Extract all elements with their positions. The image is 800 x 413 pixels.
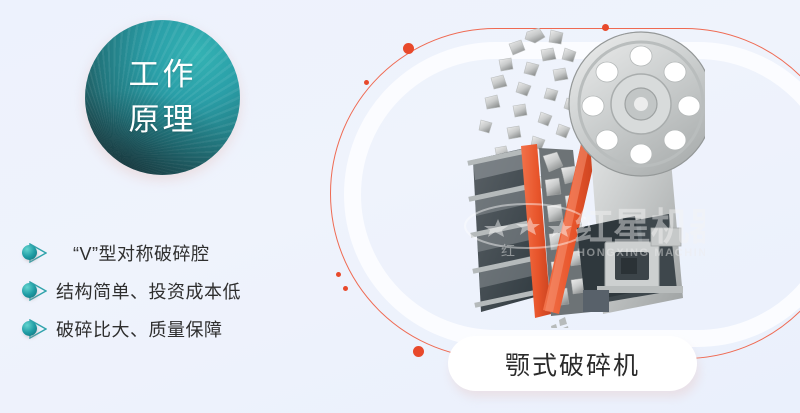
badge-line-1: 工作 [129,53,197,98]
track-dot [336,272,341,277]
track-dot [343,286,348,291]
badge-circle: 工作 原理 [85,20,240,175]
crushed-output-particles [551,317,569,328]
product-label-text: 颚式破碎机 [505,346,640,382]
crusher-flywheel [569,32,705,176]
work-principle-banner: 工作 原理 “V”型对称破碎腔结构简单、投资成本低破碎比大、质量保障 [0,0,800,413]
bullet-arrow-icon [22,318,52,340]
track-dot [403,43,414,54]
feature-list: “V”型对称破碎腔结构简单、投资成本低破碎比大、质量保障 [22,234,307,348]
bullet-arrow-icon [22,280,52,302]
track-dot [413,346,424,357]
product-label-pill: 颚式破碎机 [448,336,697,391]
bullet-arrow-icon [22,242,52,264]
feature-item: “V”型对称破碎腔 [22,234,307,272]
badge-line-2: 原理 [129,98,197,143]
feature-item: 破碎比大、质量保障 [22,310,307,348]
svg-text:HONGXING MACHINERY: HONGXING MACHINERY [577,247,705,259]
feature-item: 结构简单、投资成本低 [22,272,307,310]
feature-item-label: 结构简单、投资成本低 [56,278,241,304]
track-dot [364,80,369,85]
svg-text:红星机器: 红星机器 [575,207,705,249]
badge-circle-text: 工作 原理 [85,20,240,175]
feature-item-label: 破碎比大、质量保障 [56,316,223,342]
svg-text:红: 红 [501,243,515,259]
feature-item-label: “V”型对称破碎腔 [56,240,210,266]
jaw-crusher-illustration: 红 红星机器 HONGXING MACHINERY [455,28,705,328]
